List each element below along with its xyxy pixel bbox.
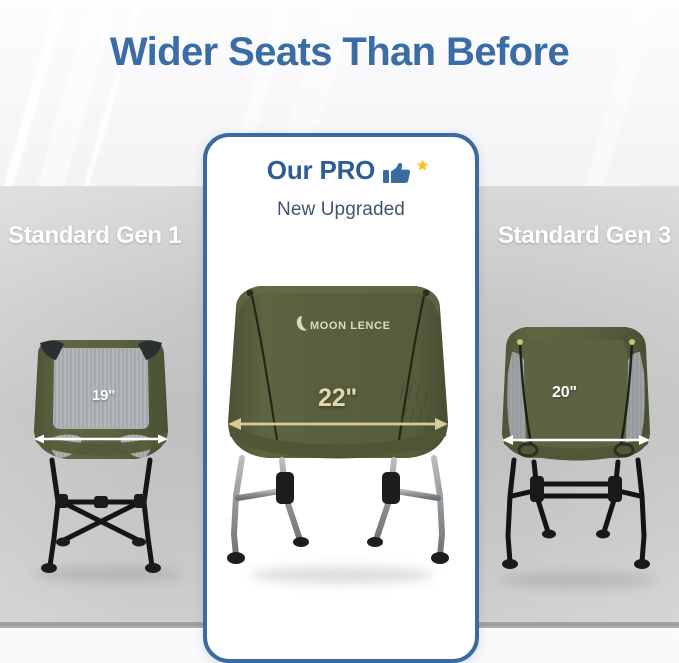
pro-card-header: Our PRO New Upgraded (207, 155, 475, 221)
label-standard-gen-3: Standard Gen 3 (498, 222, 671, 250)
page-title: Wider Seats Than Before (0, 30, 679, 75)
chair-standard-gen-1 (16, 326, 186, 578)
chair-standard-gen-3 (486, 310, 666, 578)
infographic-root: Wider Seats Than Before Standard Gen 1 S… (0, 0, 679, 663)
chair-pro: MOON LENCE (222, 272, 454, 570)
svg-text:MOON LENCE: MOON LENCE (310, 320, 391, 332)
thumbs-up-icon (383, 156, 415, 186)
label-standard-gen-1: Standard Gen 1 (8, 222, 181, 250)
pro-card-subtitle: New Upgraded (207, 199, 475, 221)
pro-card-title: Our PRO (267, 155, 375, 186)
